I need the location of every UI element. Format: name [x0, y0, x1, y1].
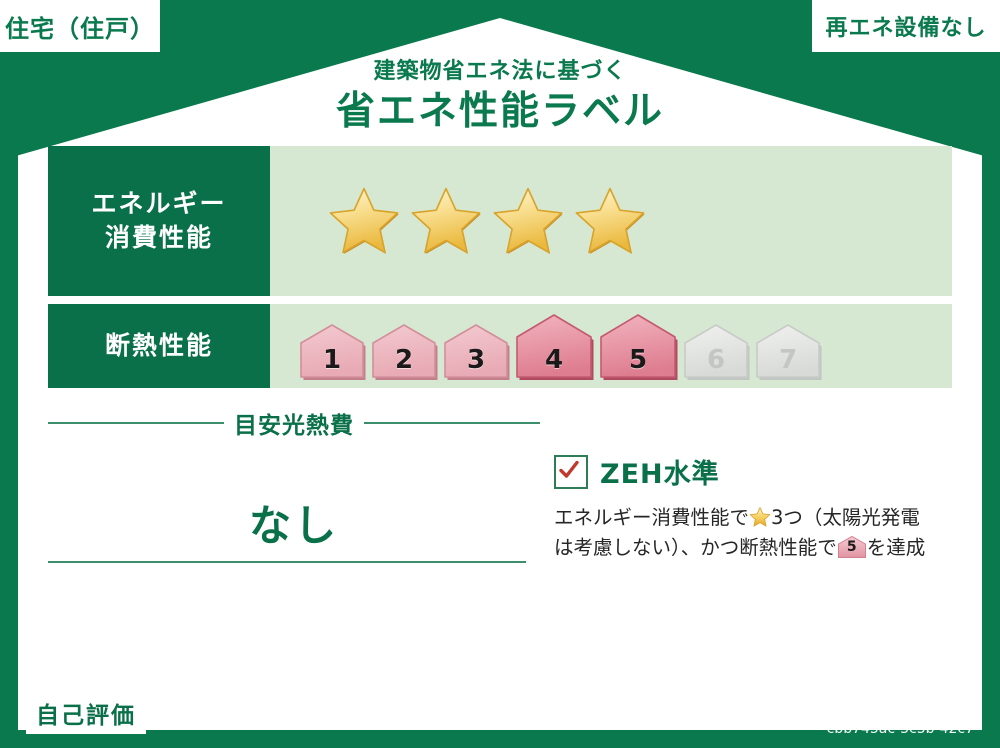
star-icon [574, 185, 646, 257]
insulation-level-value: 3 [442, 345, 510, 375]
property-address: 富山市綾田町第1(2棟)2号棟24489400200 [158, 705, 473, 729]
insulation-level-value: 6 [682, 345, 750, 375]
renewable-equipment-label: 再エネ設備なし [825, 10, 986, 42]
insulation-level-scale: 1234567 [298, 310, 822, 382]
insulation-level-value: 4 [514, 345, 594, 375]
energy-performance-value [270, 146, 952, 296]
footer-bar: 自己評価 富山市綾田町第1(2棟)2号棟24489400200 評価日 2025… [0, 686, 1000, 748]
insulation-label-text: 断熱性能 [105, 329, 213, 363]
evaluation-date: 評価日 2025年12月17日 [757, 695, 974, 719]
zeh-block: ZEH水準 エネルギー消費性能で [540, 396, 952, 563]
insulation-level-badge: 7 [754, 320, 822, 382]
star-icon [328, 185, 400, 257]
heading-rule-right [364, 422, 540, 424]
self-assessment-badge: 自己評価 [26, 700, 146, 735]
insulation-level-badge: 2 [370, 320, 438, 382]
evaluation-id: cbb745ac-3c5b-42c7 [757, 721, 974, 739]
zeh-desc-part4: を達成 [867, 536, 926, 559]
energy-label-line2: 消費性能 [105, 221, 213, 255]
insulation-level-badge: 4 [514, 310, 594, 382]
heading-rule-left [48, 422, 224, 424]
insulation-level-badge: 1 [298, 320, 366, 382]
lower-section: 目安光熱費 なし ZEH水準 エネルギー消費性能で [48, 396, 952, 563]
utility-cost-heading: 目安光熱費 [48, 406, 540, 440]
title-block: 建築物省エネ法に基づく 省エネ性能ラベル [0, 58, 1000, 136]
zeh-desc-part1: エネルギー消費性能で [554, 506, 749, 529]
energy-label-line1: エネルギー [91, 187, 226, 221]
check-icon [558, 459, 580, 481]
insulation-level-badge: 6 [682, 320, 750, 382]
insulation-performance-row: 断熱性能 1234567 [48, 304, 952, 388]
title-subtitle: 建築物省エネ法に基づく [0, 58, 1000, 86]
insulation-level-value: 1 [298, 345, 366, 375]
star-icon [410, 185, 482, 257]
zeh-desc-part3: は考慮しない）、かつ断熱性能で [554, 536, 837, 559]
utility-cost-heading-text: 目安光熱費 [234, 406, 354, 440]
insulation-badge-inline: 5 [837, 535, 867, 559]
zeh-description: エネルギー消費性能で 3つ（太陽光発電は考慮しない）、か [554, 503, 952, 563]
page-title: 省エネ性能ラベル [0, 88, 1000, 137]
star-icon [492, 185, 564, 257]
insulation-performance-label: 断熱性能 [48, 304, 270, 388]
insulation-performance-value: 1234567 [270, 304, 952, 388]
zeh-heading: ZEH水準 [554, 452, 952, 491]
insulation-level-value: 5 [598, 345, 678, 375]
footer-left: 自己評価 富山市綾田町第1(2棟)2号棟24489400200 [0, 700, 473, 735]
utility-cost-value: なし [48, 492, 540, 553]
energy-performance-row: エネルギー 消費性能 [48, 146, 952, 296]
zeh-desc-part2: 3つ（太陽光発電 [771, 506, 920, 529]
star-icon-inline [749, 506, 771, 528]
utility-cost-bottom-rule [48, 561, 526, 563]
energy-performance-label: エネルギー 消費性能 [48, 146, 270, 296]
insulation-badge-inline-value: 5 [837, 537, 867, 559]
label-content: エネルギー 消費性能 断熱性能 1234567 目安光熱費 [48, 146, 952, 563]
insulation-level-badge: 5 [598, 310, 678, 382]
zeh-checkbox[interactable] [554, 455, 588, 489]
energy-label-root: 住宅（住戸） 再エネ設備なし 建築物省エネ法に基づく 省エネ性能ラベル エネルギ… [0, 0, 1000, 748]
building-type-label: 住宅（住戸） [5, 9, 155, 44]
zeh-title: ZEH水準 [600, 452, 720, 491]
insulation-level-value: 7 [754, 345, 822, 375]
building-type-tag: 住宅（住戸） [0, 0, 160, 52]
star-rating [328, 185, 646, 257]
insulation-level-value: 2 [370, 345, 438, 375]
insulation-level-badge: 3 [442, 320, 510, 382]
footer-right: 評価日 2025年12月17日 cbb745ac-3c5b-42c7 [757, 695, 1000, 738]
renewable-equipment-tag: 再エネ設備なし [812, 0, 1000, 52]
utility-cost-block: 目安光熱費 なし [48, 396, 540, 563]
